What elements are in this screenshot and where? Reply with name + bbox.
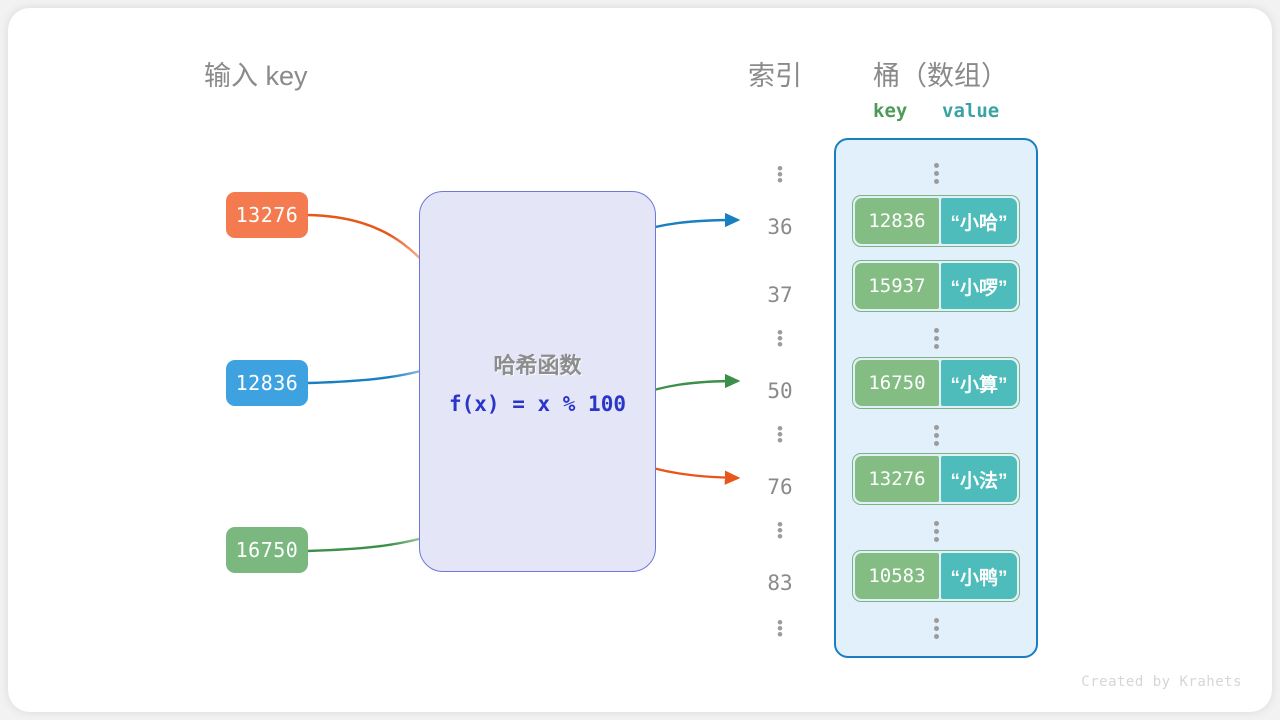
bucket-ellipsis bbox=[852, 422, 1020, 449]
bucket-ellipsis bbox=[852, 615, 1020, 642]
index-label-37: 37 bbox=[756, 283, 804, 307]
index-label-36: 36 bbox=[756, 215, 804, 239]
column-title-index: 索引 bbox=[748, 54, 802, 93]
index-ellipsis: ••• bbox=[756, 330, 804, 348]
column-title-input: 输入 key bbox=[204, 54, 308, 93]
column-header-value: value bbox=[942, 100, 999, 122]
entry-value: “小算” bbox=[941, 360, 1017, 406]
hash-function-title: 哈希函数 bbox=[419, 348, 656, 380]
input-key-label: 12836 bbox=[236, 371, 299, 395]
input-key-chip-13276[interactable]: 13276 bbox=[226, 192, 308, 238]
entry-value: “小啰” bbox=[941, 263, 1017, 309]
column-header-key: key bbox=[873, 100, 907, 122]
bucket-entry-16750[interactable]: 16750 “小算” bbox=[852, 357, 1020, 409]
input-key-chip-12836[interactable]: 12836 bbox=[226, 360, 308, 406]
bucket-entry-12836[interactable]: 12836 “小哈” bbox=[852, 195, 1020, 247]
input-key-label: 16750 bbox=[236, 538, 299, 562]
bucket-ellipsis bbox=[852, 325, 1020, 352]
entry-key: 13276 bbox=[855, 456, 939, 502]
entry-value: “小哈” bbox=[941, 198, 1017, 244]
index-label-50: 50 bbox=[756, 379, 804, 403]
index-ellipsis: ••• bbox=[756, 426, 804, 444]
hash-function-box bbox=[419, 191, 656, 572]
input-key-chip-16750[interactable]: 16750 bbox=[226, 527, 308, 573]
entry-key: 15937 bbox=[855, 263, 939, 309]
entry-value: “小鸭” bbox=[941, 553, 1017, 599]
entry-key: 16750 bbox=[855, 360, 939, 406]
index-ellipsis: ••• bbox=[756, 620, 804, 638]
diagram-card: 输入 key 索引 桶（数组） key value 13276 12836 16… bbox=[8, 8, 1272, 712]
bucket-ellipsis bbox=[852, 518, 1020, 545]
bucket-entry-10583[interactable]: 10583 “小鸭” bbox=[852, 550, 1020, 602]
hash-function-formula: f(x) = x % 100 bbox=[419, 392, 656, 416]
input-key-label: 13276 bbox=[236, 203, 299, 227]
bucket-entry-13276[interactable]: 13276 “小法” bbox=[852, 453, 1020, 505]
credit-text: Created by Krahets bbox=[1081, 674, 1242, 690]
diagram-stage: 输入 key 索引 桶（数组） key value 13276 12836 16… bbox=[8, 8, 1272, 712]
bucket-ellipsis bbox=[852, 160, 1020, 187]
index-ellipsis: ••• bbox=[756, 522, 804, 540]
index-label-83: 83 bbox=[756, 571, 804, 595]
entry-value: “小法” bbox=[941, 456, 1017, 502]
column-title-bucket: 桶（数组） bbox=[873, 54, 1008, 93]
index-ellipsis: ••• bbox=[756, 166, 804, 184]
bucket-entry-15937[interactable]: 15937 “小啰” bbox=[852, 260, 1020, 312]
entry-key: 12836 bbox=[855, 198, 939, 244]
index-label-76: 76 bbox=[756, 475, 804, 499]
entry-key: 10583 bbox=[855, 553, 939, 599]
